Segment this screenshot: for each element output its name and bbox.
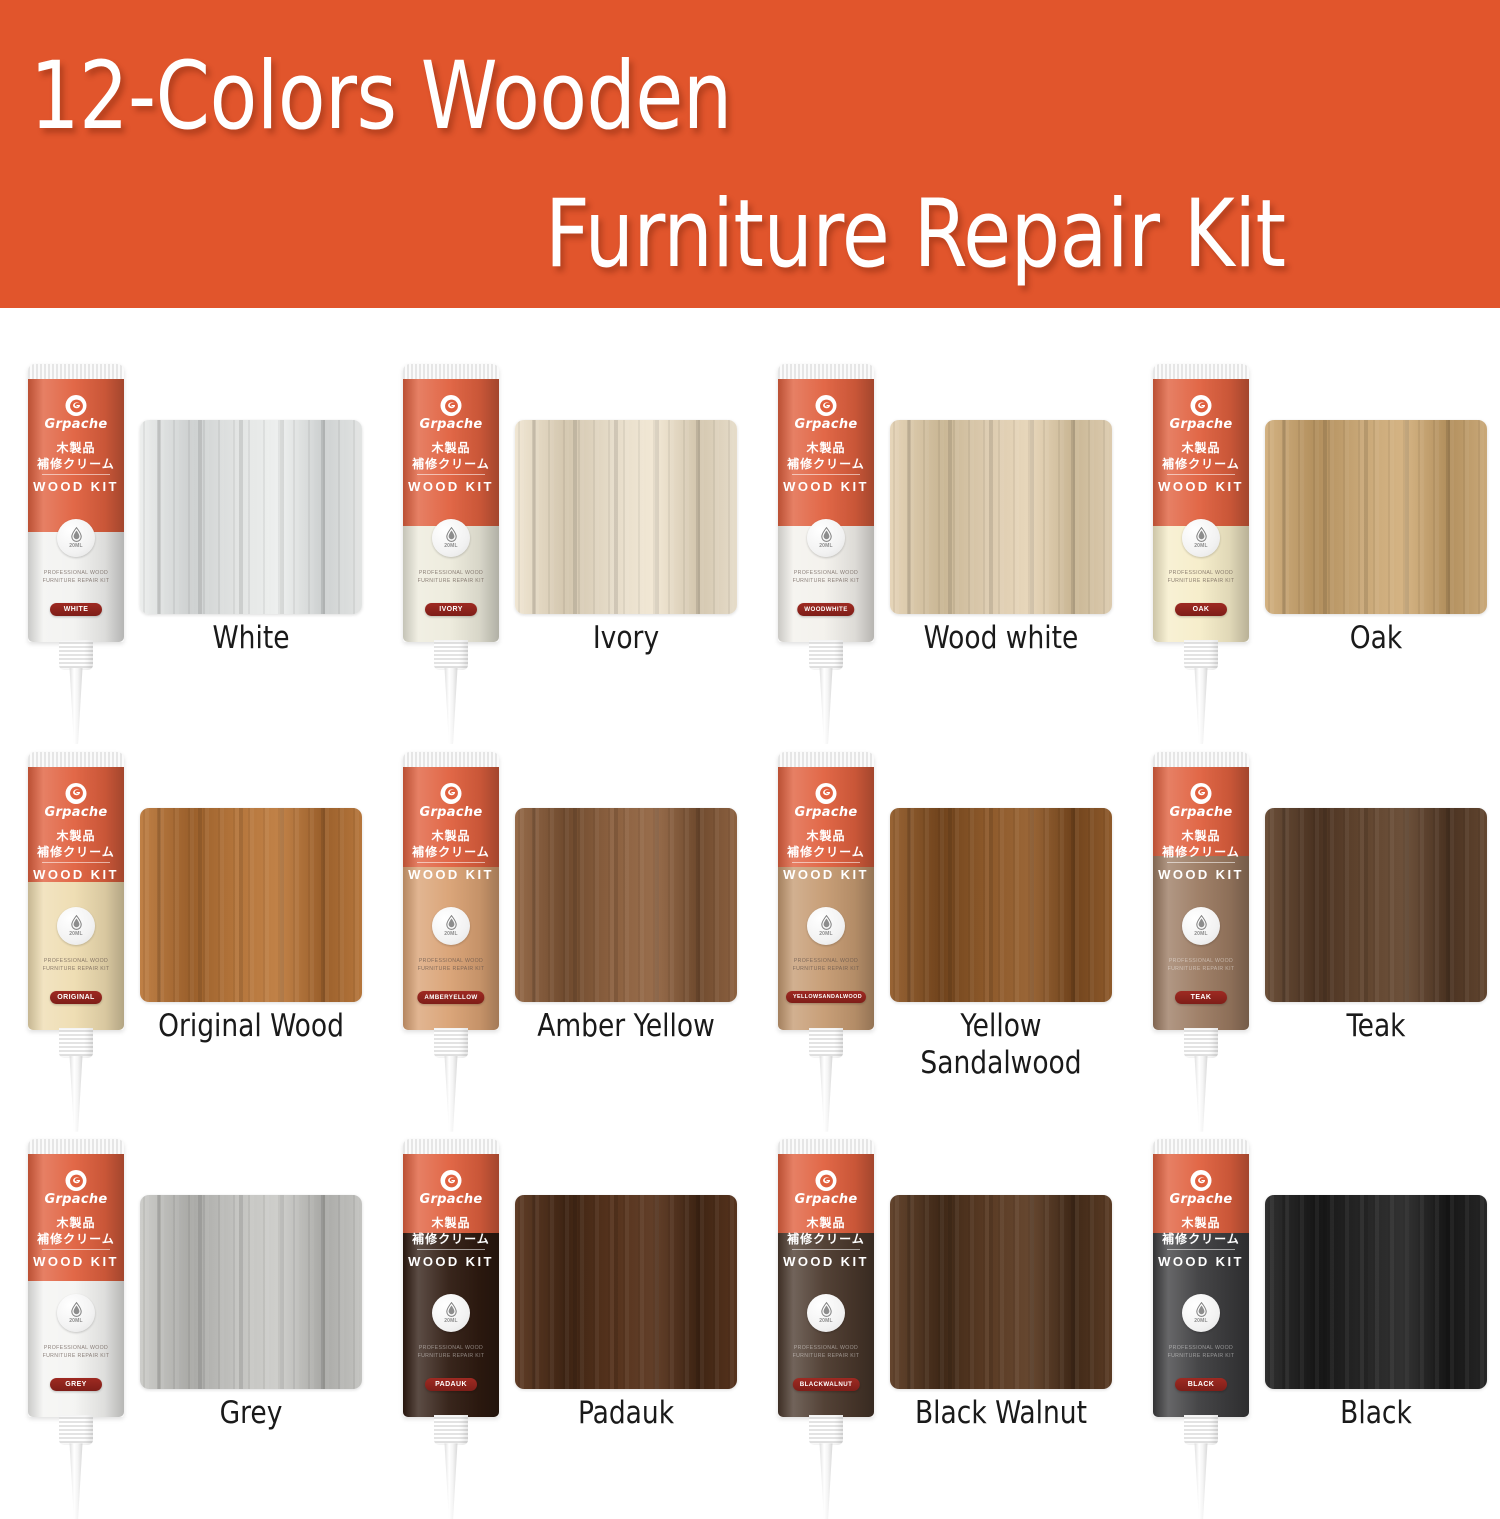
product-tube: Grpache 木製品 補修クリーム WOOD KIT 20ML PROFESS… [393,752,509,1132]
color-name-label: Teak [1271,1008,1482,1045]
product-name: WOOD KIT [28,479,124,494]
brand-name: Grpache [28,417,124,432]
fineprint-line-1: PROFESSIONAL WOOD [403,957,499,965]
volume-text: 20ML [819,543,833,549]
label-divider [42,862,110,863]
tube-nozzle-tip [445,1443,458,1519]
brand-name: Grpache [778,417,874,432]
label-divider [792,1249,860,1250]
japanese-text-line-1: 木製品 [28,827,124,844]
label-divider [417,1249,485,1250]
volume-text: 20ML [69,931,83,937]
label-divider [1167,474,1235,475]
grpache-logo-icon [1191,395,1212,416]
droplet-icon [820,1302,833,1317]
tube-body: Grpache 木製品 補修クリーム WOOD KIT 20ML PROFESS… [28,364,124,642]
fineprint-line-1: PROFESSIONAL WOOD [28,957,124,965]
color-badge: BLACK [1175,1378,1227,1391]
color-badge: WHITE [50,603,102,616]
wood-grain-texture [890,1195,1112,1389]
tube-body: Grpache 木製品 補修クリーム WOOD KIT 20ML PROFESS… [1153,1139,1249,1417]
color-name-label: Grey [146,1395,357,1432]
tube-neck [59,640,93,670]
volume-seal-badge: 20ML [807,907,845,945]
wood-color-swatch[interactable] [515,808,737,1002]
fineprint-line-2: FURNITURE REPAIR KIT [778,1352,874,1360]
brand-name: Grpache [1153,1192,1249,1207]
volume-text: 20ML [444,1318,458,1324]
wood-grain-texture [515,808,737,1002]
grpache-logo-icon [441,1170,462,1191]
brand-name: Grpache [1153,417,1249,432]
wood-grain-texture [140,420,362,614]
grpache-logo-icon [441,395,462,416]
color-badge: AMBERYELLOW [417,991,484,1004]
volume-text: 20ML [1194,543,1208,549]
grpache-logo-icon [816,783,837,804]
wood-grain-texture [890,420,1112,614]
fineprint-line-2: FURNITURE REPAIR KIT [28,965,124,973]
japanese-text-line-1: 木製品 [778,1214,874,1231]
japanese-text-line-2: 補修クリーム [28,843,124,860]
fineprint-line-1: PROFESSIONAL WOOD [1153,957,1249,965]
grpache-logo-icon [66,395,87,416]
droplet-icon [70,915,83,930]
product-tube: Grpache 木製品 補修クリーム WOOD KIT 20ML PROFESS… [18,364,134,744]
label-divider [1167,1249,1235,1250]
tube-neck [434,1415,468,1445]
wood-color-swatch[interactable] [140,808,362,1002]
wood-color-swatch[interactable] [1265,1195,1487,1389]
japanese-text-line-2: 補修クリーム [28,1230,124,1247]
grpache-logo-icon [66,1170,87,1191]
tube-crimp-seal [28,1139,124,1155]
fineprint-line-2: FURNITURE REPAIR KIT [403,577,499,585]
color-cell-wood-white[interactable]: Grpache 木製品 補修クリーム WOOD KIT 20ML PROFESS… [750,308,1125,696]
color-name-label: Original Wood [146,1008,357,1045]
label-divider [1167,862,1235,863]
tube-neck [809,1028,843,1058]
japanese-text-line-2: 補修クリーム [1153,455,1249,472]
fineprint-line-2: FURNITURE REPAIR KIT [403,1352,499,1360]
tube-nozzle-tip [1195,1443,1208,1519]
wood-grain-texture [140,1195,362,1389]
product-tube: Grpache 木製品 補修クリーム WOOD KIT 20ML PROFESS… [18,752,134,1132]
product-name: WOOD KIT [28,1254,124,1269]
volume-text: 20ML [819,1318,833,1324]
tube-body: Grpache 木製品 補修クリーム WOOD KIT 20ML PROFESS… [778,364,874,642]
label-fineprint: PROFESSIONAL WOOD FURNITURE REPAIR KIT [403,569,499,585]
japanese-text-line-1: 木製品 [403,827,499,844]
grpache-logo-icon [441,783,462,804]
droplet-icon [70,527,83,542]
wood-grain-texture [515,420,737,614]
color-cell-black-walnut[interactable]: Grpache 木製品 補修クリーム WOOD KIT 20ML PROFESS… [750,1083,1125,1471]
japanese-text-line-2: 補修クリーム [778,455,874,472]
tube-body: Grpache 木製品 補修クリーム WOOD KIT 20ML PROFESS… [1153,752,1249,1030]
tube-neck [1184,640,1218,670]
volume-seal-badge: 20ML [57,1294,95,1332]
japanese-text-line-2: 補修クリーム [778,843,874,860]
label-fineprint: PROFESSIONAL WOOD FURNITURE REPAIR KIT [1153,1344,1249,1360]
fineprint-line-2: FURNITURE REPAIR KIT [778,577,874,585]
tube-crimp-seal [778,364,874,380]
color-name-label: White [146,620,357,657]
product-tube: Grpache 木製品 補修クリーム WOOD KIT 20ML PROFESS… [18,1139,134,1519]
product-name: WOOD KIT [1153,867,1249,882]
color-name-label: Ivory [521,620,732,657]
brand-name: Grpache [403,805,499,820]
volume-seal-badge: 20ML [1182,519,1220,557]
tube-crimp-seal [28,364,124,380]
color-cell-black[interactable]: Grpache 木製品 補修クリーム WOOD KIT 20ML PROFESS… [1125,1083,1500,1471]
wood-color-swatch[interactable] [1265,808,1487,1002]
product-tube: Grpache 木製品 補修クリーム WOOD KIT 20ML PROFESS… [1143,752,1259,1132]
color-cell-amber-yellow[interactable]: Grpache 木製品 補修クリーム WOOD KIT 20ML PROFESS… [375,696,750,1084]
header-banner: 12-Colors Wooden Furniture Repair Kit [0,0,1500,308]
fineprint-line-1: PROFESSIONAL WOOD [1153,1344,1249,1352]
product-name: WOOD KIT [1153,1254,1249,1269]
tube-nozzle-tip [820,1443,833,1519]
japanese-text-line-1: 木製品 [1153,827,1249,844]
japanese-text-line-2: 補修クリーム [28,455,124,472]
droplet-icon [70,1302,83,1317]
color-name-label: Black [1271,1395,1482,1432]
label-fineprint: PROFESSIONAL WOOD FURNITURE REPAIR KIT [1153,957,1249,973]
color-name-label: Amber Yellow [521,1008,732,1045]
tube-neck [809,1415,843,1445]
product-tube: Grpache 木製品 補修クリーム WOOD KIT 20ML PROFESS… [393,364,509,744]
color-name-label: Wood white [896,620,1107,657]
volume-seal-badge: 20ML [432,907,470,945]
volume-text: 20ML [819,931,833,937]
label-divider [792,474,860,475]
color-badge: OAK [1175,603,1227,616]
fineprint-line-1: PROFESSIONAL WOOD [778,1344,874,1352]
label-fineprint: PROFESSIONAL WOOD FURNITURE REPAIR KIT [28,957,124,973]
color-badge: PADAUK [425,1378,477,1391]
fineprint-line-2: FURNITURE REPAIR KIT [28,577,124,585]
color-cell-grey[interactable]: Grpache 木製品 補修クリーム WOOD KIT 20ML PROFESS… [0,1083,375,1471]
fineprint-line-2: FURNITURE REPAIR KIT [778,965,874,973]
japanese-text-line-1: 木製品 [403,439,499,456]
label-fineprint: PROFESSIONAL WOOD FURNITURE REPAIR KIT [1153,569,1249,585]
tube-body: Grpache 木製品 補修クリーム WOOD KIT 20ML PROFESS… [778,752,874,1030]
label-divider [792,862,860,863]
japanese-text-line-1: 木製品 [28,1214,124,1231]
wood-grain-texture [890,808,1112,1002]
color-name-label: Padauk [521,1395,732,1432]
wood-color-swatch[interactable] [890,1195,1112,1389]
tube-body: Grpache 木製品 補修クリーム WOOD KIT 20ML PROFESS… [403,752,499,1030]
volume-seal-badge: 20ML [807,1294,845,1332]
color-badge: YELLOWSANDALWOOD [786,991,866,1003]
wood-color-swatch[interactable] [890,808,1112,1002]
grpache-logo-icon [816,395,837,416]
brand-name: Grpache [28,805,124,820]
volume-text: 20ML [69,543,83,549]
color-cell-padauk[interactable]: Grpache 木製品 補修クリーム WOOD KIT 20ML PROFESS… [375,1083,750,1471]
japanese-text-line-2: 補修クリーム [403,455,499,472]
volume-seal-badge: 20ML [57,907,95,945]
color-name-label: Oak [1271,620,1482,657]
product-name: WOOD KIT [778,867,874,882]
volume-seal-badge: 20ML [1182,1294,1220,1332]
color-badge: BLACKWALNUT [793,1378,860,1391]
product-name: WOOD KIT [403,479,499,494]
fineprint-line-1: PROFESSIONAL WOOD [778,569,874,577]
product-name: WOOD KIT [28,867,124,882]
fineprint-line-1: PROFESSIONAL WOOD [1153,569,1249,577]
color-cell-ivory[interactable]: Grpache 木製品 補修クリーム WOOD KIT 20ML PROFESS… [375,308,750,696]
grpache-logo-icon [66,783,87,804]
wood-color-swatch[interactable] [140,420,362,614]
fineprint-line-2: FURNITURE REPAIR KIT [1153,577,1249,585]
volume-seal-badge: 20ML [1182,907,1220,945]
wood-grain-texture [1265,1195,1487,1389]
japanese-text-line-2: 補修クリーム [403,843,499,860]
label-divider [42,474,110,475]
japanese-text-line-2: 補修クリーム [1153,1230,1249,1247]
color-name-label: Black Walnut [896,1395,1107,1432]
tube-nozzle-tip [70,1443,83,1519]
droplet-icon [1195,1302,1208,1317]
color-badge: ORIGINAL [50,991,102,1004]
japanese-text-line-2: 補修クリーム [1153,843,1249,860]
fineprint-line-1: PROFESSIONAL WOOD [28,569,124,577]
tube-lower-color-section [778,867,874,1030]
tube-crimp-seal [403,364,499,380]
label-divider [417,862,485,863]
wood-grain-texture [1265,808,1487,1002]
label-fineprint: PROFESSIONAL WOOD FURNITURE REPAIR KIT [778,957,874,973]
brand-name: Grpache [778,805,874,820]
color-swatch-grid: Grpache 木製品 補修クリーム WOOD KIT 20ML PROFESS… [0,308,1500,1471]
droplet-icon [445,1302,458,1317]
product-tube: Grpache 木製品 補修クリーム WOOD KIT 20ML PROFESS… [768,364,884,744]
brand-name: Grpache [1153,805,1249,820]
product-tube: Grpache 木製品 補修クリーム WOOD KIT 20ML PROFESS… [393,1139,509,1519]
fineprint-line-2: FURNITURE REPAIR KIT [28,1352,124,1360]
wood-grain-texture [140,808,362,1002]
volume-seal-badge: 20ML [432,519,470,557]
japanese-text-line-1: 木製品 [403,1214,499,1231]
tube-crimp-seal [1153,364,1249,380]
japanese-text-line-1: 木製品 [1153,439,1249,456]
label-fineprint: PROFESSIONAL WOOD FURNITURE REPAIR KIT [403,957,499,973]
color-cell-original-wood[interactable]: Grpache 木製品 補修クリーム WOOD KIT 20ML PROFESS… [0,696,375,1084]
tube-crimp-seal [28,752,124,768]
volume-text: 20ML [444,931,458,937]
fineprint-line-1: PROFESSIONAL WOOD [403,1344,499,1352]
label-divider [42,1249,110,1250]
label-fineprint: PROFESSIONAL WOOD FURNITURE REPAIR KIT [778,569,874,585]
brand-name: Grpache [403,1192,499,1207]
wood-color-swatch[interactable] [515,1195,737,1389]
brand-name: Grpache [778,1192,874,1207]
product-name: WOOD KIT [778,1254,874,1269]
label-fineprint: PROFESSIONAL WOOD FURNITURE REPAIR KIT [28,569,124,585]
product-name: WOOD KIT [403,867,499,882]
color-badge: WOODWHITE [797,603,854,616]
volume-seal-badge: 20ML [432,1294,470,1332]
tube-lower-color-section [403,867,499,1030]
droplet-icon [820,527,833,542]
product-name: WOOD KIT [778,479,874,494]
tube-body: Grpache 木製品 補修クリーム WOOD KIT 20ML PROFESS… [403,1139,499,1417]
volume-text: 20ML [1194,1318,1208,1324]
tube-neck [434,1028,468,1058]
volume-text: 20ML [69,1318,83,1324]
color-cell-white[interactable]: Grpache 木製品 補修クリーム WOOD KIT 20ML PROFESS… [0,308,375,696]
tube-neck [809,640,843,670]
color-name-label: Yellow Sandalwood [896,1008,1107,1082]
tube-crimp-seal [778,752,874,768]
tube-neck [59,1415,93,1445]
fineprint-line-1: PROFESSIONAL WOOD [28,1344,124,1352]
tube-body: Grpache 木製品 補修クリーム WOOD KIT 20ML PROFESS… [28,1139,124,1417]
japanese-text-line-1: 木製品 [778,827,874,844]
brand-name: Grpache [403,417,499,432]
wood-color-swatch[interactable] [1265,420,1487,614]
grpache-logo-icon [816,1170,837,1191]
color-badge: GREY [50,1378,102,1391]
tube-body: Grpache 木製品 補修クリーム WOOD KIT 20ML PROFESS… [403,364,499,642]
product-tube: Grpache 木製品 補修クリーム WOOD KIT 20ML PROFESS… [768,1139,884,1519]
color-cell-oak[interactable]: Grpache 木製品 補修クリーム WOOD KIT 20ML PROFESS… [1125,308,1500,696]
droplet-icon [820,915,833,930]
product-tube: Grpache 木製品 補修クリーム WOOD KIT 20ML PROFESS… [768,752,884,1132]
tube-neck [434,640,468,670]
color-badge: TEAK [1175,991,1227,1004]
volume-seal-badge: 20ML [57,519,95,557]
volume-text: 20ML [1194,931,1208,937]
product-tube: Grpache 木製品 補修クリーム WOOD KIT 20ML PROFESS… [1143,364,1259,744]
fineprint-line-1: PROFESSIONAL WOOD [778,957,874,965]
tube-body: Grpache 木製品 補修クリーム WOOD KIT 20ML PROFESS… [778,1139,874,1417]
tube-neck [1184,1028,1218,1058]
tube-body: Grpache 木製品 補修クリーム WOOD KIT 20ML PROFESS… [1153,364,1249,642]
tube-neck [1184,1415,1218,1445]
banner-title-line-2: Furniture Repair Kit [545,180,1286,289]
grpache-logo-icon [1191,783,1212,804]
label-fineprint: PROFESSIONAL WOOD FURNITURE REPAIR KIT [403,1344,499,1360]
japanese-text-line-1: 木製品 [778,439,874,456]
grpache-logo-icon [1191,1170,1212,1191]
product-tube: Grpache 木製品 補修クリーム WOOD KIT 20ML PROFESS… [1143,1139,1259,1519]
brand-name: Grpache [28,1192,124,1207]
wood-color-swatch[interactable] [140,1195,362,1389]
japanese-text-line-1: 木製品 [28,439,124,456]
japanese-text-line-2: 補修クリーム [403,1230,499,1247]
banner-title-line-1: 12-Colors Wooden [30,42,732,151]
tube-neck [59,1028,93,1058]
japanese-text-line-1: 木製品 [1153,1214,1249,1231]
wood-grain-texture [1265,420,1487,614]
droplet-icon [1195,915,1208,930]
fineprint-line-2: FURNITURE REPAIR KIT [1153,1352,1249,1360]
wood-color-swatch[interactable] [515,420,737,614]
label-fineprint: PROFESSIONAL WOOD FURNITURE REPAIR KIT [778,1344,874,1360]
product-name: WOOD KIT [403,1254,499,1269]
tube-crimp-seal [778,1139,874,1155]
japanese-text-line-2: 補修クリーム [778,1230,874,1247]
label-fineprint: PROFESSIONAL WOOD FURNITURE REPAIR KIT [28,1344,124,1360]
tube-crimp-seal [403,1139,499,1155]
tube-crimp-seal [1153,1139,1249,1155]
droplet-icon [445,527,458,542]
fineprint-line-2: FURNITURE REPAIR KIT [1153,965,1249,973]
tube-crimp-seal [403,752,499,768]
color-cell-yellow-sandalwood[interactable]: Grpache 木製品 補修クリーム WOOD KIT 20ML PROFESS… [750,696,1125,1084]
volume-seal-badge: 20ML [807,519,845,557]
droplet-icon [445,915,458,930]
label-divider [417,474,485,475]
color-badge: IVORY [425,603,477,616]
droplet-icon [1195,527,1208,542]
fineprint-line-1: PROFESSIONAL WOOD [403,569,499,577]
volume-text: 20ML [444,543,458,549]
product-name: WOOD KIT [1153,479,1249,494]
tube-crimp-seal [1153,752,1249,768]
tube-body: Grpache 木製品 補修クリーム WOOD KIT 20ML PROFESS… [28,752,124,1030]
color-cell-teak[interactable]: Grpache 木製品 補修クリーム WOOD KIT 20ML PROFESS… [1125,696,1500,1084]
wood-grain-texture [515,1195,737,1389]
wood-color-swatch[interactable] [890,420,1112,614]
fineprint-line-2: FURNITURE REPAIR KIT [403,965,499,973]
